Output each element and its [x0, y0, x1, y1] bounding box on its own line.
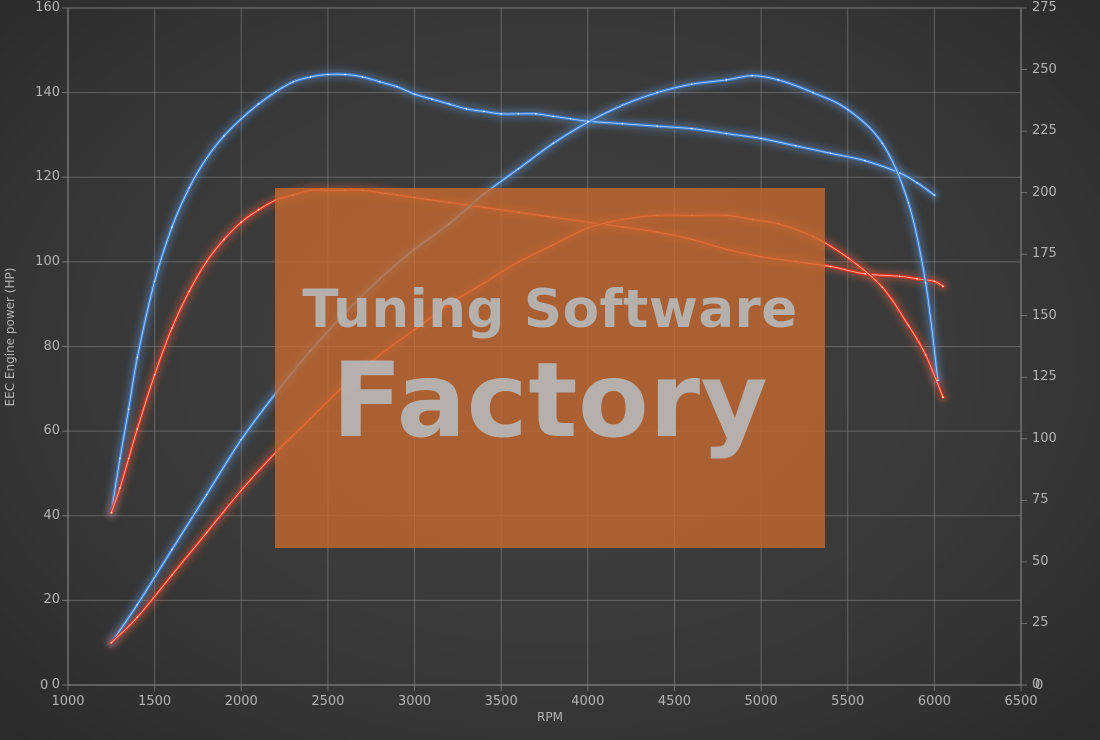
dyno-chart: Tuning Software Factory 0204060801001201… [0, 0, 1100, 740]
y-right-tick-75: 75 [1032, 492, 1076, 507]
x-tick-3000: 3000 [379, 694, 451, 709]
x-tick-2000: 2000 [205, 694, 277, 709]
x-tick-1000: 1000 [32, 694, 104, 709]
y-left-tick-20: 20 [2, 592, 60, 607]
y-right-tick-250: 250 [1032, 62, 1076, 77]
x-tick-6000: 6000 [898, 694, 970, 709]
bottom-right-zero: 0 [1035, 678, 1043, 693]
x-tick-6500: 6500 [985, 694, 1057, 709]
x-tick-4000: 4000 [552, 694, 624, 709]
x-tick-5500: 5500 [812, 694, 884, 709]
x-tick-5000: 5000 [725, 694, 797, 709]
y-left-tick-0: 0 [2, 677, 60, 692]
y-right-tick-175: 175 [1032, 246, 1076, 261]
y-left-tick-160: 160 [2, 0, 60, 15]
y-left-tick-140: 140 [2, 85, 60, 100]
y-left-axis-title: EEC Engine power (HP) [3, 207, 17, 467]
x-axis-title: RPM [0, 710, 1100, 724]
x-tick-3500: 3500 [465, 694, 537, 709]
y-right-tick-200: 200 [1032, 185, 1076, 200]
y-right-tick-50: 50 [1032, 554, 1076, 569]
y-left-tick-120: 120 [2, 169, 60, 184]
y-right-tick-150: 150 [1032, 308, 1076, 323]
bottom-left-zero: 0 [40, 678, 48, 693]
x-tick-1500: 1500 [119, 694, 191, 709]
y-right-tick-225: 225 [1032, 123, 1076, 138]
y-right-tick-25: 25 [1032, 615, 1076, 630]
x-tick-4500: 4500 [638, 694, 710, 709]
y-right-tick-275: 275 [1032, 0, 1076, 15]
x-tick-2500: 2500 [292, 694, 364, 709]
y-right-tick-100: 100 [1032, 431, 1076, 446]
axis-ticks [0, 0, 1100, 740]
y-left-tick-40: 40 [2, 508, 60, 523]
y-right-tick-125: 125 [1032, 369, 1076, 384]
